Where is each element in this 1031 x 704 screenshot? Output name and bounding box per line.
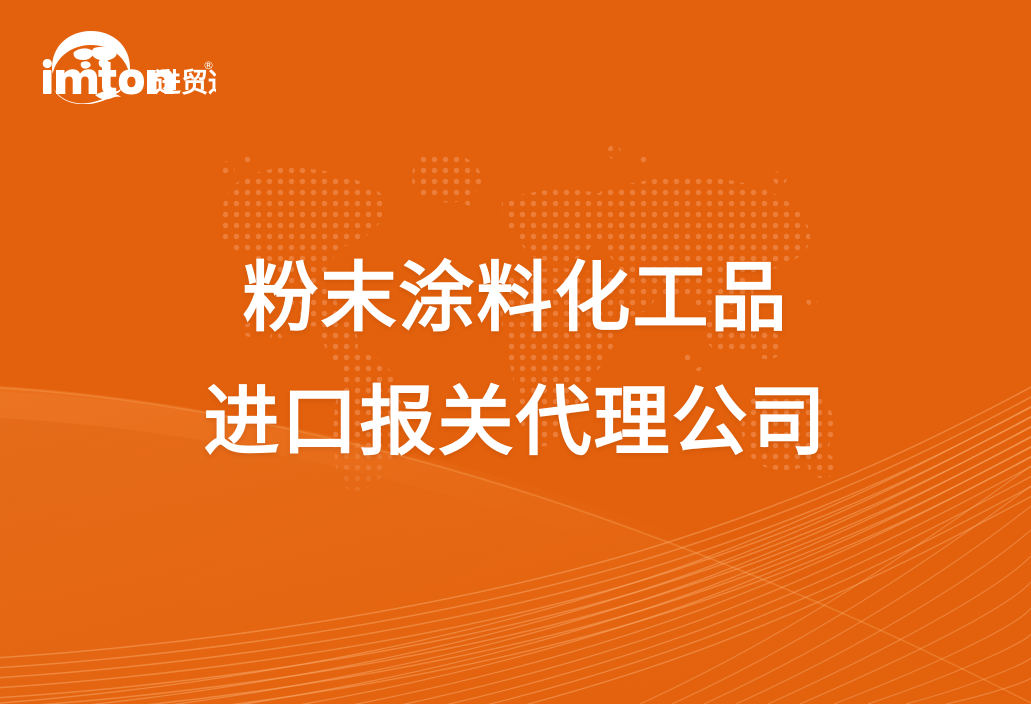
globe-icon — [52, 31, 130, 74]
brand-logo[interactable]: 进贸通 ® — [36, 26, 216, 104]
promo-banner: 进贸通 ® 粉末涂料化工品 进口报关代理公司 — [0, 0, 1031, 704]
logo-chinese-name: 进贸通 — [154, 68, 216, 99]
wave-decoration — [0, 0, 1031, 704]
registered-trademark-symbol: ® — [203, 59, 214, 72]
